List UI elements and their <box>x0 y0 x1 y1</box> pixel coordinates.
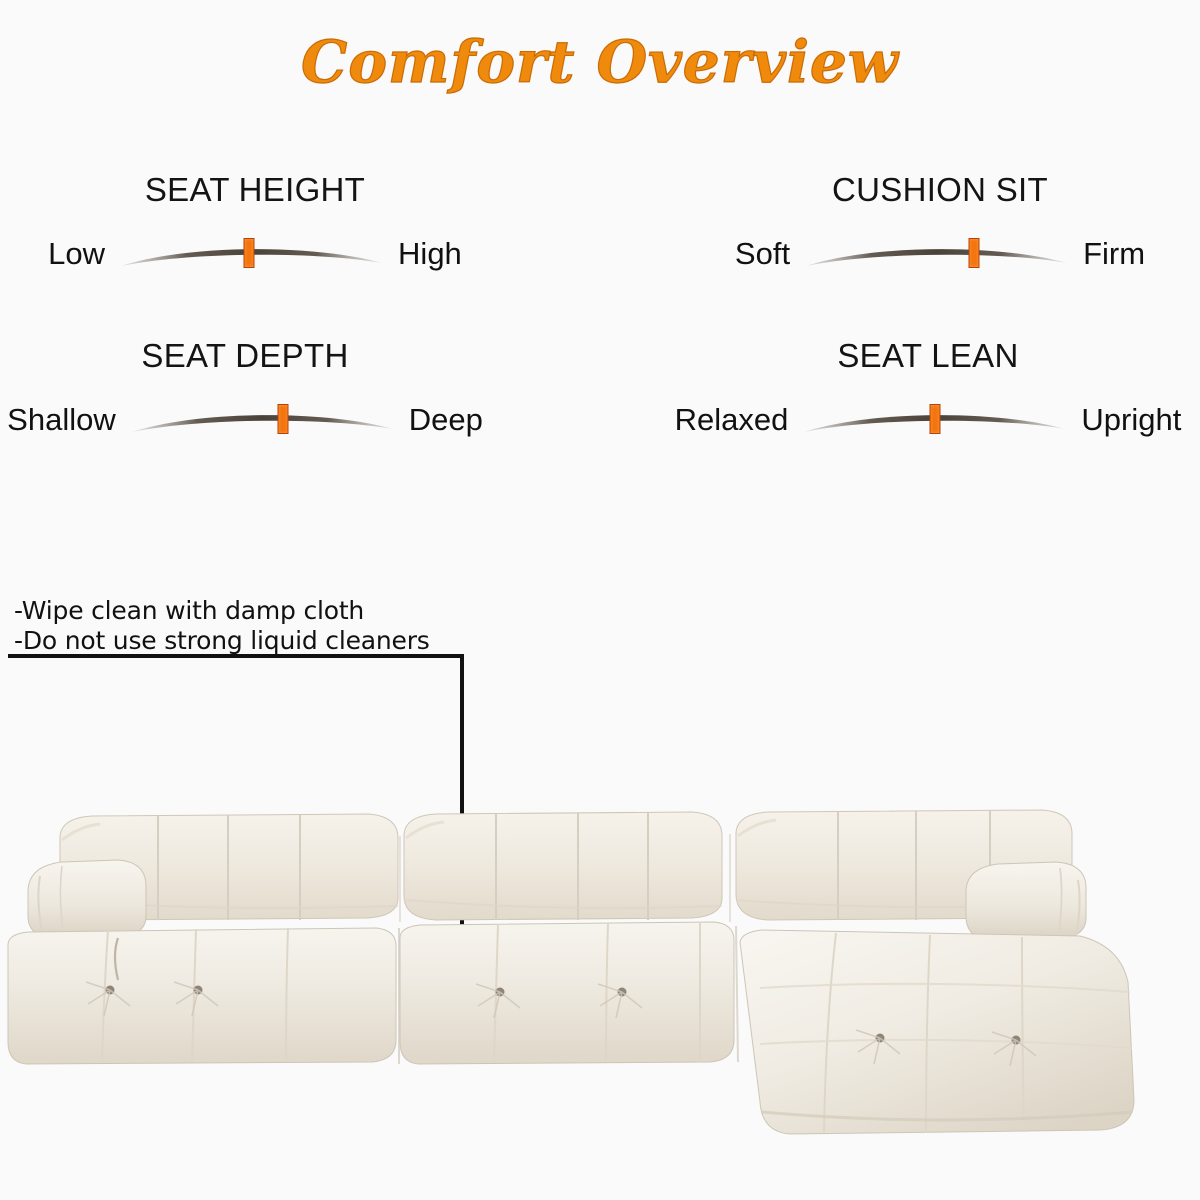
comfort-scale-right-label: Upright <box>1081 398 1181 442</box>
comfort-scale-marker[interactable] <box>929 404 940 434</box>
comfort-scale-title: SEAT LEAN <box>678 336 1178 376</box>
comfort-scale-right-label: Deep <box>409 398 483 442</box>
comfort-scale-track[interactable] <box>804 232 1069 276</box>
left-armrest <box>28 860 146 940</box>
comfort-scale-left-label: Low <box>48 232 105 276</box>
care-instruction-line: -Do not use strong liquid cleaners <box>14 626 484 656</box>
comfort-scale-track[interactable] <box>119 232 384 276</box>
left-seat-cushion <box>8 928 396 1064</box>
comfort-scale-marker[interactable] <box>243 238 254 268</box>
comfort-scale-track[interactable] <box>802 398 1067 442</box>
care-instructions: -Wipe clean with damp cloth -Do not use … <box>14 596 484 656</box>
product-image-modular-sectional-sofa <box>0 740 1200 1200</box>
sofa-module-left <box>8 814 398 1064</box>
care-instruction-line: -Wipe clean with damp cloth <box>14 596 484 626</box>
sofa-module-right-chaise <box>736 810 1134 1134</box>
center-backrest <box>404 812 722 920</box>
comfort-scale-marker[interactable] <box>968 238 979 268</box>
comfort-scale-seat-depth: SEAT DEPTH Shallow Deep <box>0 336 495 446</box>
sofa-module-center <box>400 812 734 1064</box>
page-title: Comfort Overview <box>0 28 1200 96</box>
comfort-scale-seat-lean: SEAT LEAN Relaxed Upright <box>678 336 1178 446</box>
comfort-scale-title: SEAT DEPTH <box>0 336 495 376</box>
comfort-scale-title: SEAT HEIGHT <box>5 170 505 210</box>
comfort-overview-page: Comfort Overview SEAT HEIGHT Low <box>0 0 1200 1200</box>
comfort-scale-left-label: Shallow <box>7 398 116 442</box>
comfort-scale-track[interactable] <box>130 398 395 442</box>
comfort-scale-left-label: Soft <box>735 232 790 276</box>
right-chaise-seat <box>740 930 1134 1134</box>
center-seat-cushion <box>400 922 734 1064</box>
comfort-scale-left-label: Relaxed <box>675 398 789 442</box>
comfort-scale-cushion-sit: CUSHION SIT Soft Firm <box>690 170 1190 280</box>
comfort-scale-right-label: High <box>398 232 462 276</box>
comfort-scale-title: CUSHION SIT <box>690 170 1190 210</box>
comfort-scale-right-label: Firm <box>1083 232 1145 276</box>
comfort-scales-grid: SEAT HEIGHT Low <box>0 170 1200 490</box>
comfort-scale-marker[interactable] <box>278 404 289 434</box>
comfort-scale-seat-height: SEAT HEIGHT Low <box>5 170 505 280</box>
right-armrest <box>966 862 1086 944</box>
